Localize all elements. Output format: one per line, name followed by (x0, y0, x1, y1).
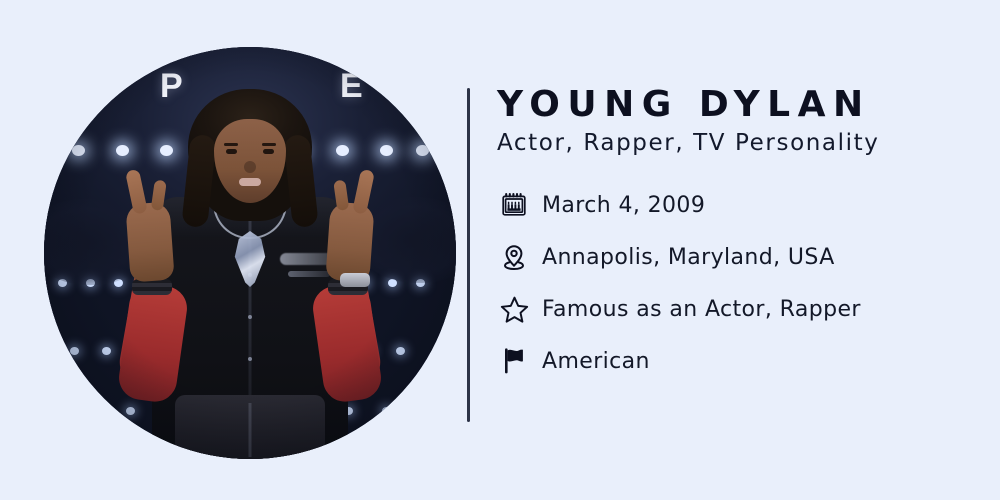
fact-row-birthdate: March 4, 2009 (497, 179, 987, 231)
eye (226, 149, 237, 154)
nose (244, 161, 256, 173)
eyebrow (262, 143, 276, 146)
avatar: P E (44, 47, 456, 459)
celebrity-profile-card: P E (0, 0, 1000, 500)
fact-label-birthdate: March 4, 2009 (542, 193, 705, 218)
fact-label-nationality: American (542, 349, 650, 374)
jacket-logo-sub (288, 271, 330, 277)
profile-info: YOUNG DYLAN Actor, Rapper, TV Personalit… (497, 86, 987, 387)
left-hand (125, 202, 174, 283)
jacket-button (248, 315, 252, 319)
fact-row-birthplace: Annapolis, Maryland, USA (497, 231, 987, 283)
profile-photo-container: P E (44, 47, 456, 459)
pinky-finger (333, 180, 349, 211)
wristwatch (340, 273, 370, 287)
index-finger (125, 169, 148, 215)
mouth (239, 178, 261, 186)
left-cuff (132, 279, 172, 295)
location-pin-icon (497, 240, 531, 274)
eye (263, 149, 274, 154)
fact-label-famous-for: Famous as an Actor, Rapper (542, 297, 861, 322)
fact-row-famous-for: Famous as an Actor, Rapper (497, 283, 987, 335)
pendant (230, 231, 270, 287)
person-figure (44, 47, 456, 459)
fact-label-birthplace: Annapolis, Maryland, USA (542, 245, 835, 270)
profile-subtitle: Actor, Rapper, TV Personality (497, 130, 987, 158)
profile-facts-list: March 4, 2009 Annapolis, Maryland, USA (497, 179, 987, 387)
fact-row-nationality: American (497, 335, 987, 387)
jacket-button (248, 357, 252, 361)
pinky-finger (151, 180, 167, 211)
right-hand (325, 202, 374, 283)
star-icon (497, 292, 531, 326)
eyebrow (224, 143, 238, 146)
index-finger (352, 169, 375, 215)
waist-pants (175, 395, 325, 459)
page-title: YOUNG DYLAN (497, 86, 987, 124)
vertical-divider (467, 88, 470, 422)
birthday-calendar-icon (497, 188, 531, 222)
flag-icon (497, 344, 531, 378)
